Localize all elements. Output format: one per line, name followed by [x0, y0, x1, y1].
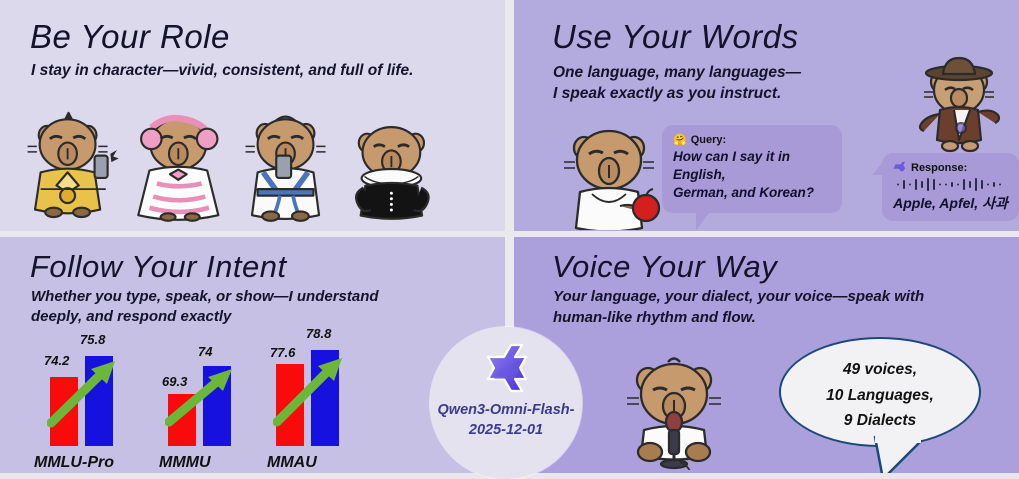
- audio-waveform-icon: [895, 178, 1007, 191]
- bear-character-pink-dress-icon: [129, 103, 233, 225]
- voice-stats-text: 49 voices, 10 Languages, 9 Dialects: [781, 357, 979, 434]
- character-row-be-your-role: [22, 100, 442, 225]
- bear-character-apple-icon: [562, 118, 670, 230]
- subtitle-line-1: Whether you type, speak, or show—I under…: [31, 288, 379, 305]
- subtitle-line-1: Your language, your dialect, your voice—…: [553, 288, 924, 305]
- green-up-arrow-icon: [273, 350, 349, 428]
- qwen-logo-icon: [475, 341, 537, 399]
- response-text: Apple, Apfel, 사과: [892, 193, 1009, 213]
- panel-subtitle-voice-your-way: Your language, your dialect, your voice—…: [553, 287, 924, 328]
- bar-category-label-2: MMAU: [267, 454, 317, 472]
- voice-stats-line-2: 10 Languages,: [781, 383, 979, 409]
- panel-subtitle-use-your-words: One language, many languages— I speak ex…: [553, 62, 801, 105]
- benchmark-bar-chart: 74.2 75.8 MMLU-Pro 69.3 74: [28, 332, 368, 472]
- badge-name-line-2: 2025-12-01: [438, 421, 575, 441]
- subtitle-line-2: I speak exactly as you instruct.: [553, 85, 781, 102]
- query-text: How can I say it in English, German, and…: [673, 148, 831, 203]
- panel-follow-your-intent: Follow Your Intent Whether you type, spe…: [0, 237, 505, 473]
- query-label-row: 🤗 Query:: [673, 133, 831, 146]
- response-label: Response:: [911, 162, 967, 174]
- panel-use-your-words: Use Your Words One language, many langua…: [514, 0, 1019, 231]
- badge-name-line-1: Qwen3-Omni-Flash-: [438, 401, 575, 421]
- response-label-row: Response:: [892, 160, 1009, 175]
- badge-model-name: Qwen3-Omni-Flash- 2025-12-01: [438, 401, 575, 440]
- subtitle-line-1: One language, many languages—: [553, 64, 801, 81]
- panel-title-follow-your-intent: Follow Your Intent: [30, 249, 287, 285]
- bubble-tail-icon: [869, 435, 929, 473]
- bear-character-black-ruff-icon: [343, 113, 442, 225]
- voice-stats-bubble: 49 voices, 10 Languages, 9 Dialects: [779, 337, 981, 447]
- green-up-arrow-icon: [47, 353, 121, 428]
- query-bubble: 🤗 Query: How can I say it in English, Ge…: [662, 125, 842, 213]
- bar-value-label-2-1: 78.8: [306, 326, 331, 341]
- subtitle-line-2: deeply, and respond exactly: [31, 308, 231, 325]
- panel-voice-your-way: Voice Your Way Your language, your diale…: [514, 237, 1019, 473]
- panel-title-be-your-role: Be Your Role: [30, 18, 230, 56]
- model-badge: Qwen3-Omni-Flash- 2025-12-01: [430, 327, 582, 479]
- query-label: Query:: [691, 134, 726, 146]
- bear-character-blue-white-robe-icon: [239, 103, 338, 225]
- green-up-arrow-icon: [165, 360, 239, 428]
- query-line-1: How can I say it in English,: [673, 149, 790, 182]
- panel-title-voice-your-way: Voice Your Way: [552, 249, 777, 285]
- bear-character-hat-coat-icon: [912, 48, 1012, 156]
- qwen-logo-icon: [892, 160, 907, 175]
- panel-title-use-your-words: Use Your Words: [552, 18, 799, 56]
- response-bubble: Response: Apple, Apfel, 사과: [882, 153, 1019, 221]
- panel-subtitle-be-your-role: I stay in character—vivid, consistent, a…: [31, 62, 413, 80]
- voice-stats-line-1: 49 voices,: [781, 357, 979, 383]
- bar-category-label-1: MMMU: [159, 454, 211, 472]
- bar-value-label-1-1: 74: [198, 344, 212, 359]
- infographic-board: Be Your Role I stay in character—vivid, …: [0, 0, 1019, 473]
- query-line-2: German, and Korean?: [673, 185, 814, 200]
- panel-be-your-role: Be Your Role I stay in character—vivid, …: [0, 0, 505, 231]
- bear-character-yellow-robe-icon: [22, 103, 123, 225]
- voice-stats-line-3: 9 Dialects: [781, 408, 979, 434]
- hug-face-emoji-icon: 🤗: [673, 133, 687, 146]
- bear-character-microphone-icon: [624, 352, 732, 470]
- subtitle-line-2: human-like rhythm and flow.: [553, 309, 756, 326]
- panel-subtitle-follow-your-intent: Whether you type, speak, or show—I under…: [31, 287, 379, 328]
- bar-category-label-0: MMLU-Pro: [34, 454, 114, 472]
- bar-value-label-0-1: 75.8: [80, 332, 105, 347]
